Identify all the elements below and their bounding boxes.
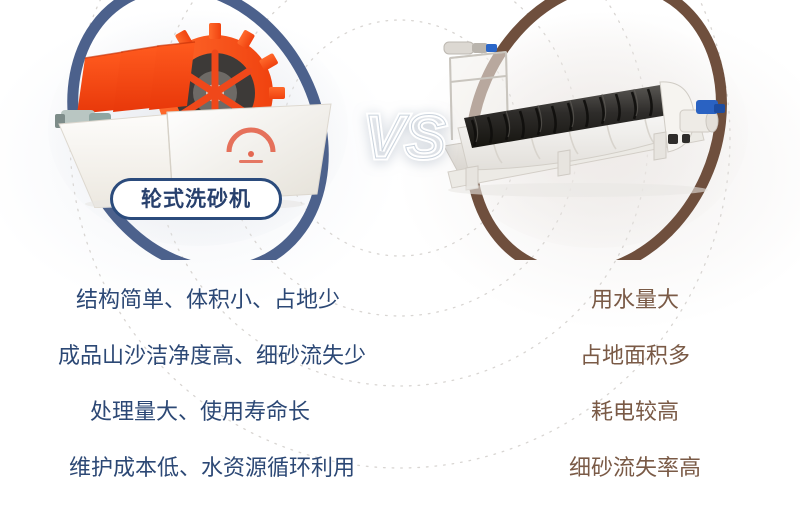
right-product-panel: 螺旋洗砂机 bbox=[400, 0, 800, 250]
right-feature-item: 细砂流失率高 bbox=[470, 440, 800, 496]
right-feature-item: 用水量大 bbox=[470, 272, 800, 328]
right-feature-item: 耗电较高 bbox=[470, 384, 800, 440]
vs-text-icon: VS VS bbox=[350, 92, 460, 182]
spiral-sand-washer-icon bbox=[428, 22, 728, 202]
vs-label-inner: VS bbox=[364, 103, 447, 172]
left-product-label[interactable]: 轮式洗砂机 bbox=[110, 178, 282, 220]
feature-lists: 结构简单、体积小、占地少 成品山沙洁净度高、细砂流失少 处理量大、使用寿命长 维… bbox=[0, 272, 800, 502]
left-feature-item: 维护成本低、水资源循环利用 bbox=[0, 440, 430, 496]
right-feature-column: 用水量大 占地面积多 耗电较高 细砂流失率高 bbox=[470, 272, 800, 496]
comparison-infographic: 轮式洗砂机 bbox=[0, 0, 800, 530]
left-feature-item: 成品山沙洁净度高、细砂流失少 bbox=[0, 328, 430, 384]
left-feature-column: 结构简单、体积小、占地少 成品山沙洁净度高、细砂流失少 处理量大、使用寿命长 维… bbox=[0, 272, 430, 496]
left-feature-item: 处理量大、使用寿命长 bbox=[0, 384, 430, 440]
left-product-label-text: 轮式洗砂机 bbox=[141, 189, 251, 210]
right-feature-item: 占地面积多 bbox=[470, 328, 800, 384]
left-feature-item: 结构简单、体积小、占地少 bbox=[0, 272, 430, 328]
vs-badge: VS VS bbox=[350, 92, 460, 182]
left-product-panel: 轮式洗砂机 bbox=[0, 0, 400, 250]
